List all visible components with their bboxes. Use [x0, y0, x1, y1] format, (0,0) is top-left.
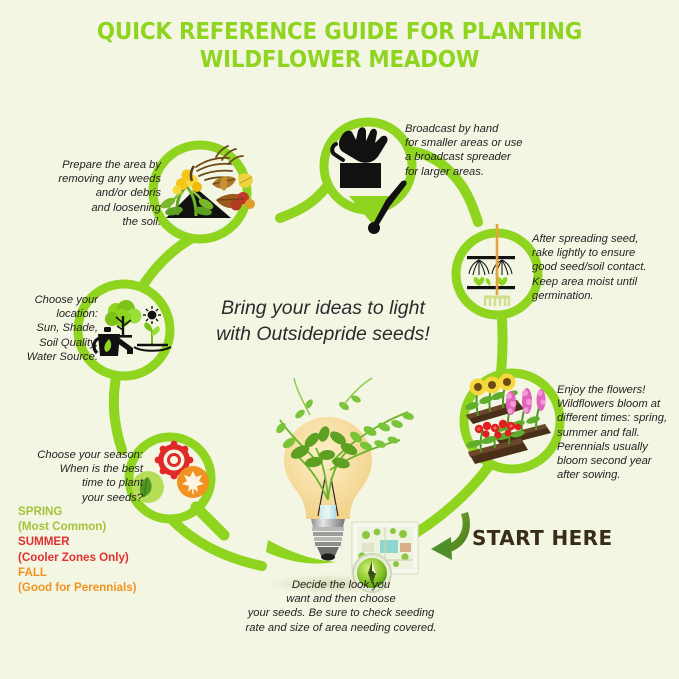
start-here-label: START HERE [472, 526, 613, 550]
legend-spring-name: SPRING [18, 504, 178, 519]
slogan-line-1: Bring your ideas to light [178, 295, 468, 321]
caption-decide-look: Decide the look you want and then choose… [176, 578, 506, 635]
caption-choose-location: Choose your location: Sun, Shade, Soil Q… [8, 293, 98, 364]
legend-fall-name: FALL [18, 565, 178, 580]
caption-choose-season: Choose your season: When is the best tim… [10, 448, 143, 505]
legend-spring-note: (Most Common) [18, 519, 178, 534]
caption-prepare-area: Prepare the area by removing any weeds a… [36, 158, 161, 229]
season-legend: SPRING (Most Common) SUMMER (Cooler Zone… [18, 504, 178, 595]
legend-summer-note: (Cooler Zones Only) [18, 550, 178, 565]
slogan-line-2: with Outsidepride seeds! [178, 321, 468, 347]
legend-summer-name: SUMMER [18, 534, 178, 549]
spray-bar-icon [467, 256, 515, 259]
magnifier-icon [196, 507, 224, 535]
decide-look-icons [266, 378, 418, 594]
title-line-2: WILDFLOWER MEADOW [24, 46, 655, 74]
page-title: QUICK REFERENCE GUIDE FOR PLANTING WILDF… [24, 18, 655, 74]
bulb-base-icon [311, 519, 345, 561]
orange-maple-leaf-icon [177, 466, 209, 498]
caption-rake-and-water: After spreading seed, rake lightly to en… [532, 232, 677, 303]
title-line-1: QUICK REFERENCE GUIDE FOR PLANTING [24, 18, 655, 46]
center-slogan: Bring your ideas to light with Outsidepr… [178, 295, 468, 347]
caption-broadcast-seed: Broadcast by hand for smaller areas or u… [405, 122, 555, 179]
infographic-canvas: QUICK REFERENCE GUIDE FOR PLANTING WILDF… [0, 0, 679, 679]
legend-fall-note: (Good for Perennials) [18, 580, 178, 595]
caption-enjoy-flowers: Enjoy the flowers! Wildflowers bloom at … [557, 383, 677, 482]
